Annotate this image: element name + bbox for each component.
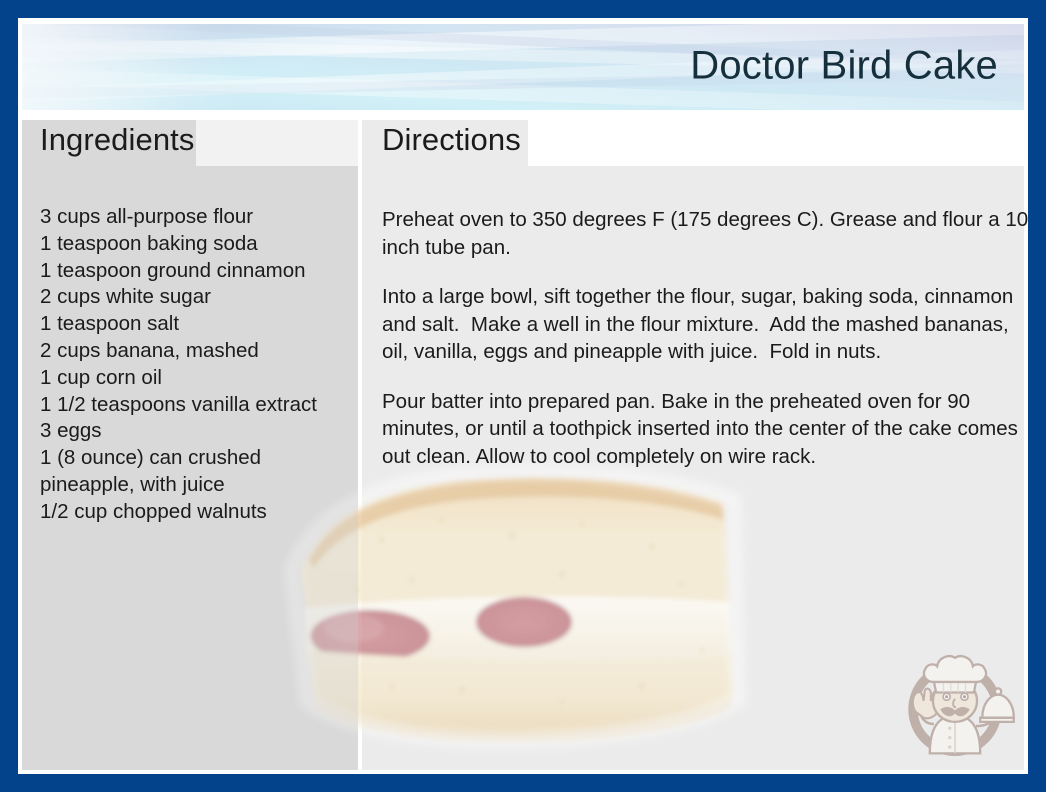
ingredients-list: 3 cups all-purpose flour 1 teaspoon baki… xyxy=(40,204,360,526)
panel-notch-right xyxy=(528,120,1024,166)
list-item: 3 eggs xyxy=(40,418,360,445)
page-title: Doctor Bird Cake xyxy=(690,44,998,89)
list-item: 1/2 cup chopped walnuts xyxy=(40,499,360,526)
list-item: 1 1/2 teaspoons vanilla extract xyxy=(40,392,360,419)
direction-step: Preheat oven to 350 degrees F (175 degre… xyxy=(382,206,1028,261)
ingredients-heading: Ingredients xyxy=(40,122,194,158)
list-item: 2 cups banana, mashed xyxy=(40,338,360,365)
list-item: 3 cups all-purpose flour xyxy=(40,204,360,231)
list-item: 1 teaspoon salt xyxy=(40,311,360,338)
list-item: 1 teaspoon baking soda xyxy=(40,231,360,258)
directions-text: Preheat oven to 350 degrees F (175 degre… xyxy=(382,206,1028,470)
list-item: 2 cups white sugar xyxy=(40,284,360,311)
directions-heading: Directions xyxy=(382,122,521,158)
list-item: 1 teaspoon ground cinnamon xyxy=(40,258,360,285)
list-item: 1 (8 ounce) can crushed pineapple, with … xyxy=(40,445,360,499)
recipe-card: Doctor Bird Cake xyxy=(0,0,1046,792)
panel-notch-left xyxy=(196,120,362,166)
list-item: 1 cup corn oil xyxy=(40,365,360,392)
recipe-page: Doctor Bird Cake xyxy=(18,18,1028,774)
header-banner: Doctor Bird Cake xyxy=(22,24,1024,110)
direction-step: Into a large bowl, sift together the flo… xyxy=(382,283,1028,366)
direction-step: Pour batter into prepared pan. Bake in t… xyxy=(382,388,1028,471)
